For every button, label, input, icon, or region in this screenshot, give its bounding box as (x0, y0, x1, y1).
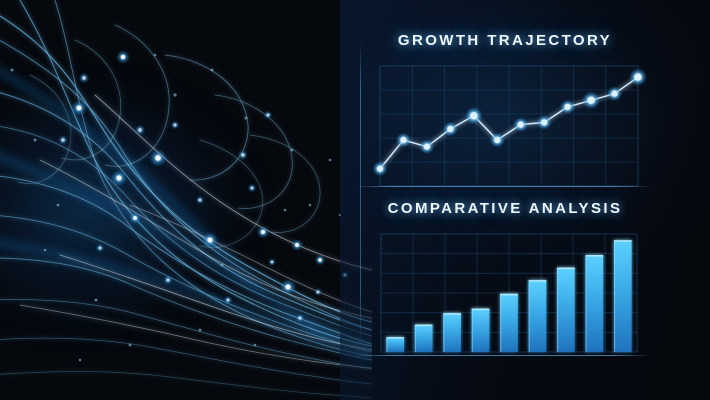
network-strands-svg (0, 0, 372, 400)
bar (472, 309, 490, 352)
bar-chart-plot (381, 234, 637, 352)
chart-gridlines (380, 66, 638, 186)
bar (415, 325, 433, 352)
bar (529, 280, 547, 352)
bar (614, 240, 632, 352)
bar-chart-card: COMPARATIVE ANALYSIS (355, 200, 655, 360)
bar (443, 313, 461, 352)
bar (386, 337, 404, 352)
bar-chart-title: COMPARATIVE ANALYSIS (355, 200, 655, 217)
bar (500, 294, 518, 352)
bar (557, 268, 575, 352)
bar (586, 255, 604, 352)
line-chart-title: GROWTH TRAJECTORY (355, 32, 655, 49)
bar-chart-axis-rule (357, 355, 649, 356)
line-chart-axis-rule (358, 186, 650, 187)
neural-network-artwork (0, 0, 372, 400)
network-nodes (11, 50, 350, 361)
line-chart-card: GROWTH TRAJECTORY (355, 32, 655, 192)
dashboard-canvas: GROWTH TRAJECTORY COMPARATIVE ANALYSIS (0, 0, 710, 400)
line-chart-plot (380, 66, 638, 186)
